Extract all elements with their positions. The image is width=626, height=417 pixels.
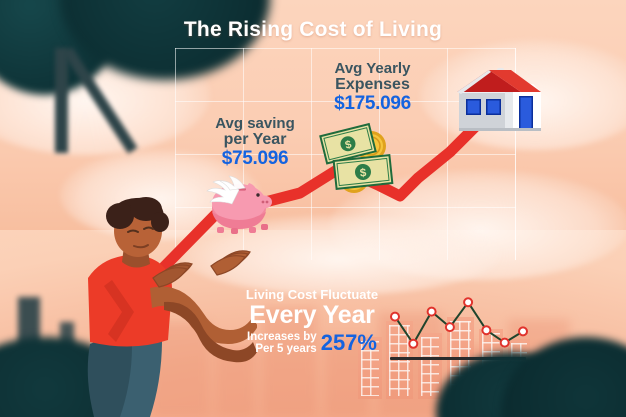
expenses-line2: Expenses: [305, 77, 440, 94]
avg-saving-value: $75.096: [190, 149, 320, 169]
page-title: The Rising Cost of Living: [0, 18, 626, 42]
tree-trunk: [55, 48, 68, 153]
chart-data-point: [501, 339, 509, 347]
avg-saving-line1: Avg saving: [190, 116, 320, 132]
expenses-value: $175.096: [305, 94, 440, 114]
avg-saving-line2: per Year: [190, 132, 320, 149]
expenses-line1: Avg Yearly: [305, 61, 440, 77]
callout-living-cost-fluctuation: Living Cost Fluctuate Every Year Increas…: [222, 288, 402, 356]
fluctuation-line3a: Increases by: [247, 331, 317, 344]
chart-data-point: [409, 340, 417, 348]
fluctuation-line1: Living Cost Fluctuate: [222, 288, 402, 302]
fluctuation-line3b: Per 5 years: [247, 343, 317, 356]
money-bills-and-coins-icon: $ $ $ $: [315, 118, 405, 200]
callout-avg-saving: Avg saving per Year $75.096: [190, 116, 320, 168]
infographic-canvas: The Rising Cost of Living $: [0, 0, 626, 417]
chart-data-point: [446, 323, 454, 331]
chart-data-point: [464, 298, 472, 306]
living-cost-fluctuation-chart: [388, 285, 530, 365]
fluctuation-line2: Every Year: [222, 302, 402, 328]
chart-data-point: [482, 326, 490, 334]
house-icon: [455, 62, 545, 134]
chart-data-point: [391, 313, 399, 321]
callout-avg-yearly-expenses: Avg Yearly Expenses $175.096: [305, 61, 440, 113]
chart-data-point: [519, 327, 527, 335]
fluctuation-value: 257%: [321, 332, 377, 354]
chart-data-point: [428, 308, 436, 316]
